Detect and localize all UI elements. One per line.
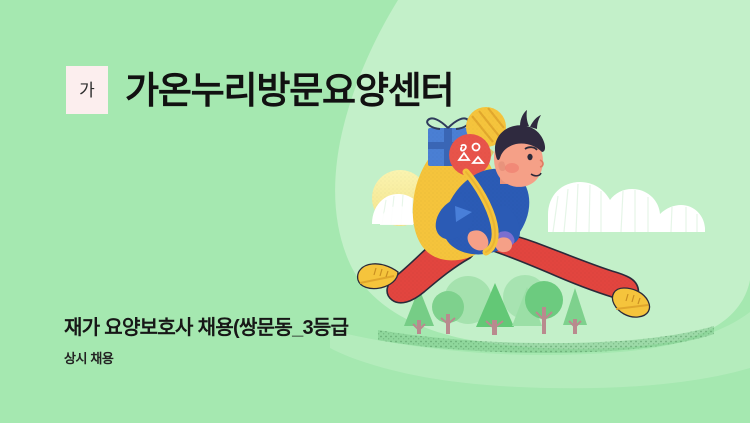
runner-back-leg [387, 231, 475, 302]
gift-ball-yellow-icon [466, 107, 506, 147]
job-status-badge: 상시 채용 [64, 352, 348, 365]
company-initial-text: 가 [79, 82, 95, 99]
runner-back-arm [436, 196, 474, 239]
runner-head [494, 134, 543, 187]
card-footer: 재가 요양보호사 채용(쌍문동_3등급 상시 채용 [64, 316, 348, 365]
gift-sack [413, 139, 499, 260]
card-header: 가 가온누리방문요양센터 [66, 66, 453, 114]
cloud-right-icon [548, 182, 705, 232]
runner-front-leg [473, 232, 638, 300]
tree-conifer-small [563, 288, 587, 334]
company-name: 가온누리방문요양센터 [125, 72, 453, 109]
runner-front-arm [490, 206, 520, 245]
cloud-small-icon [380, 206, 413, 225]
tree-round [432, 291, 464, 334]
runner-shirt [443, 169, 530, 255]
tree-conifer-large [476, 283, 514, 335]
sack-strap [466, 172, 495, 252]
gift-ball-red-icon [449, 134, 491, 176]
cloud-left-icon [372, 194, 459, 224]
tree-row [404, 275, 587, 335]
runner-front-shoe [612, 288, 649, 317]
tree-conifer [404, 288, 434, 334]
tree-conifer-pale [512, 287, 542, 326]
sun-icon [372, 170, 428, 226]
job-posting-card: 가 가온누리방문요양센터 재가 요양보호사 채용(쌍문동_3등급 상시 채용 [0, 0, 750, 423]
runner-figure [358, 107, 650, 317]
backdrop-wave [330, 312, 750, 388]
runner-back-shoe [358, 264, 398, 289]
tree-round-dark [525, 281, 563, 334]
gift-box-icon [427, 118, 470, 166]
company-initial-badge: 가 [66, 66, 108, 114]
runner-hair [495, 125, 545, 160]
ground-band [378, 326, 714, 353]
job-title: 재가 요양보호사 채용(쌍문동_3등급 [64, 316, 348, 340]
backdrop-blob [335, 0, 750, 349]
